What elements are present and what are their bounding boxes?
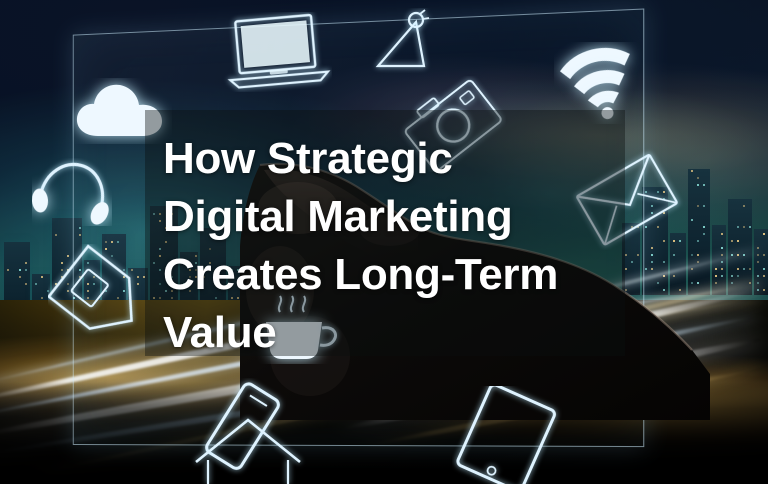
megaphone-icon (364, 8, 434, 80)
tablet-icon (452, 386, 562, 484)
laptop-icon (222, 12, 332, 92)
article-hero-banner: How Strategic Digital Marketing Creates … (0, 0, 768, 484)
headphones-icon (32, 158, 112, 226)
tag-icon (48, 244, 152, 348)
house-icon (188, 404, 308, 484)
page-title: How Strategic Digital Marketing Creates … (163, 130, 633, 362)
